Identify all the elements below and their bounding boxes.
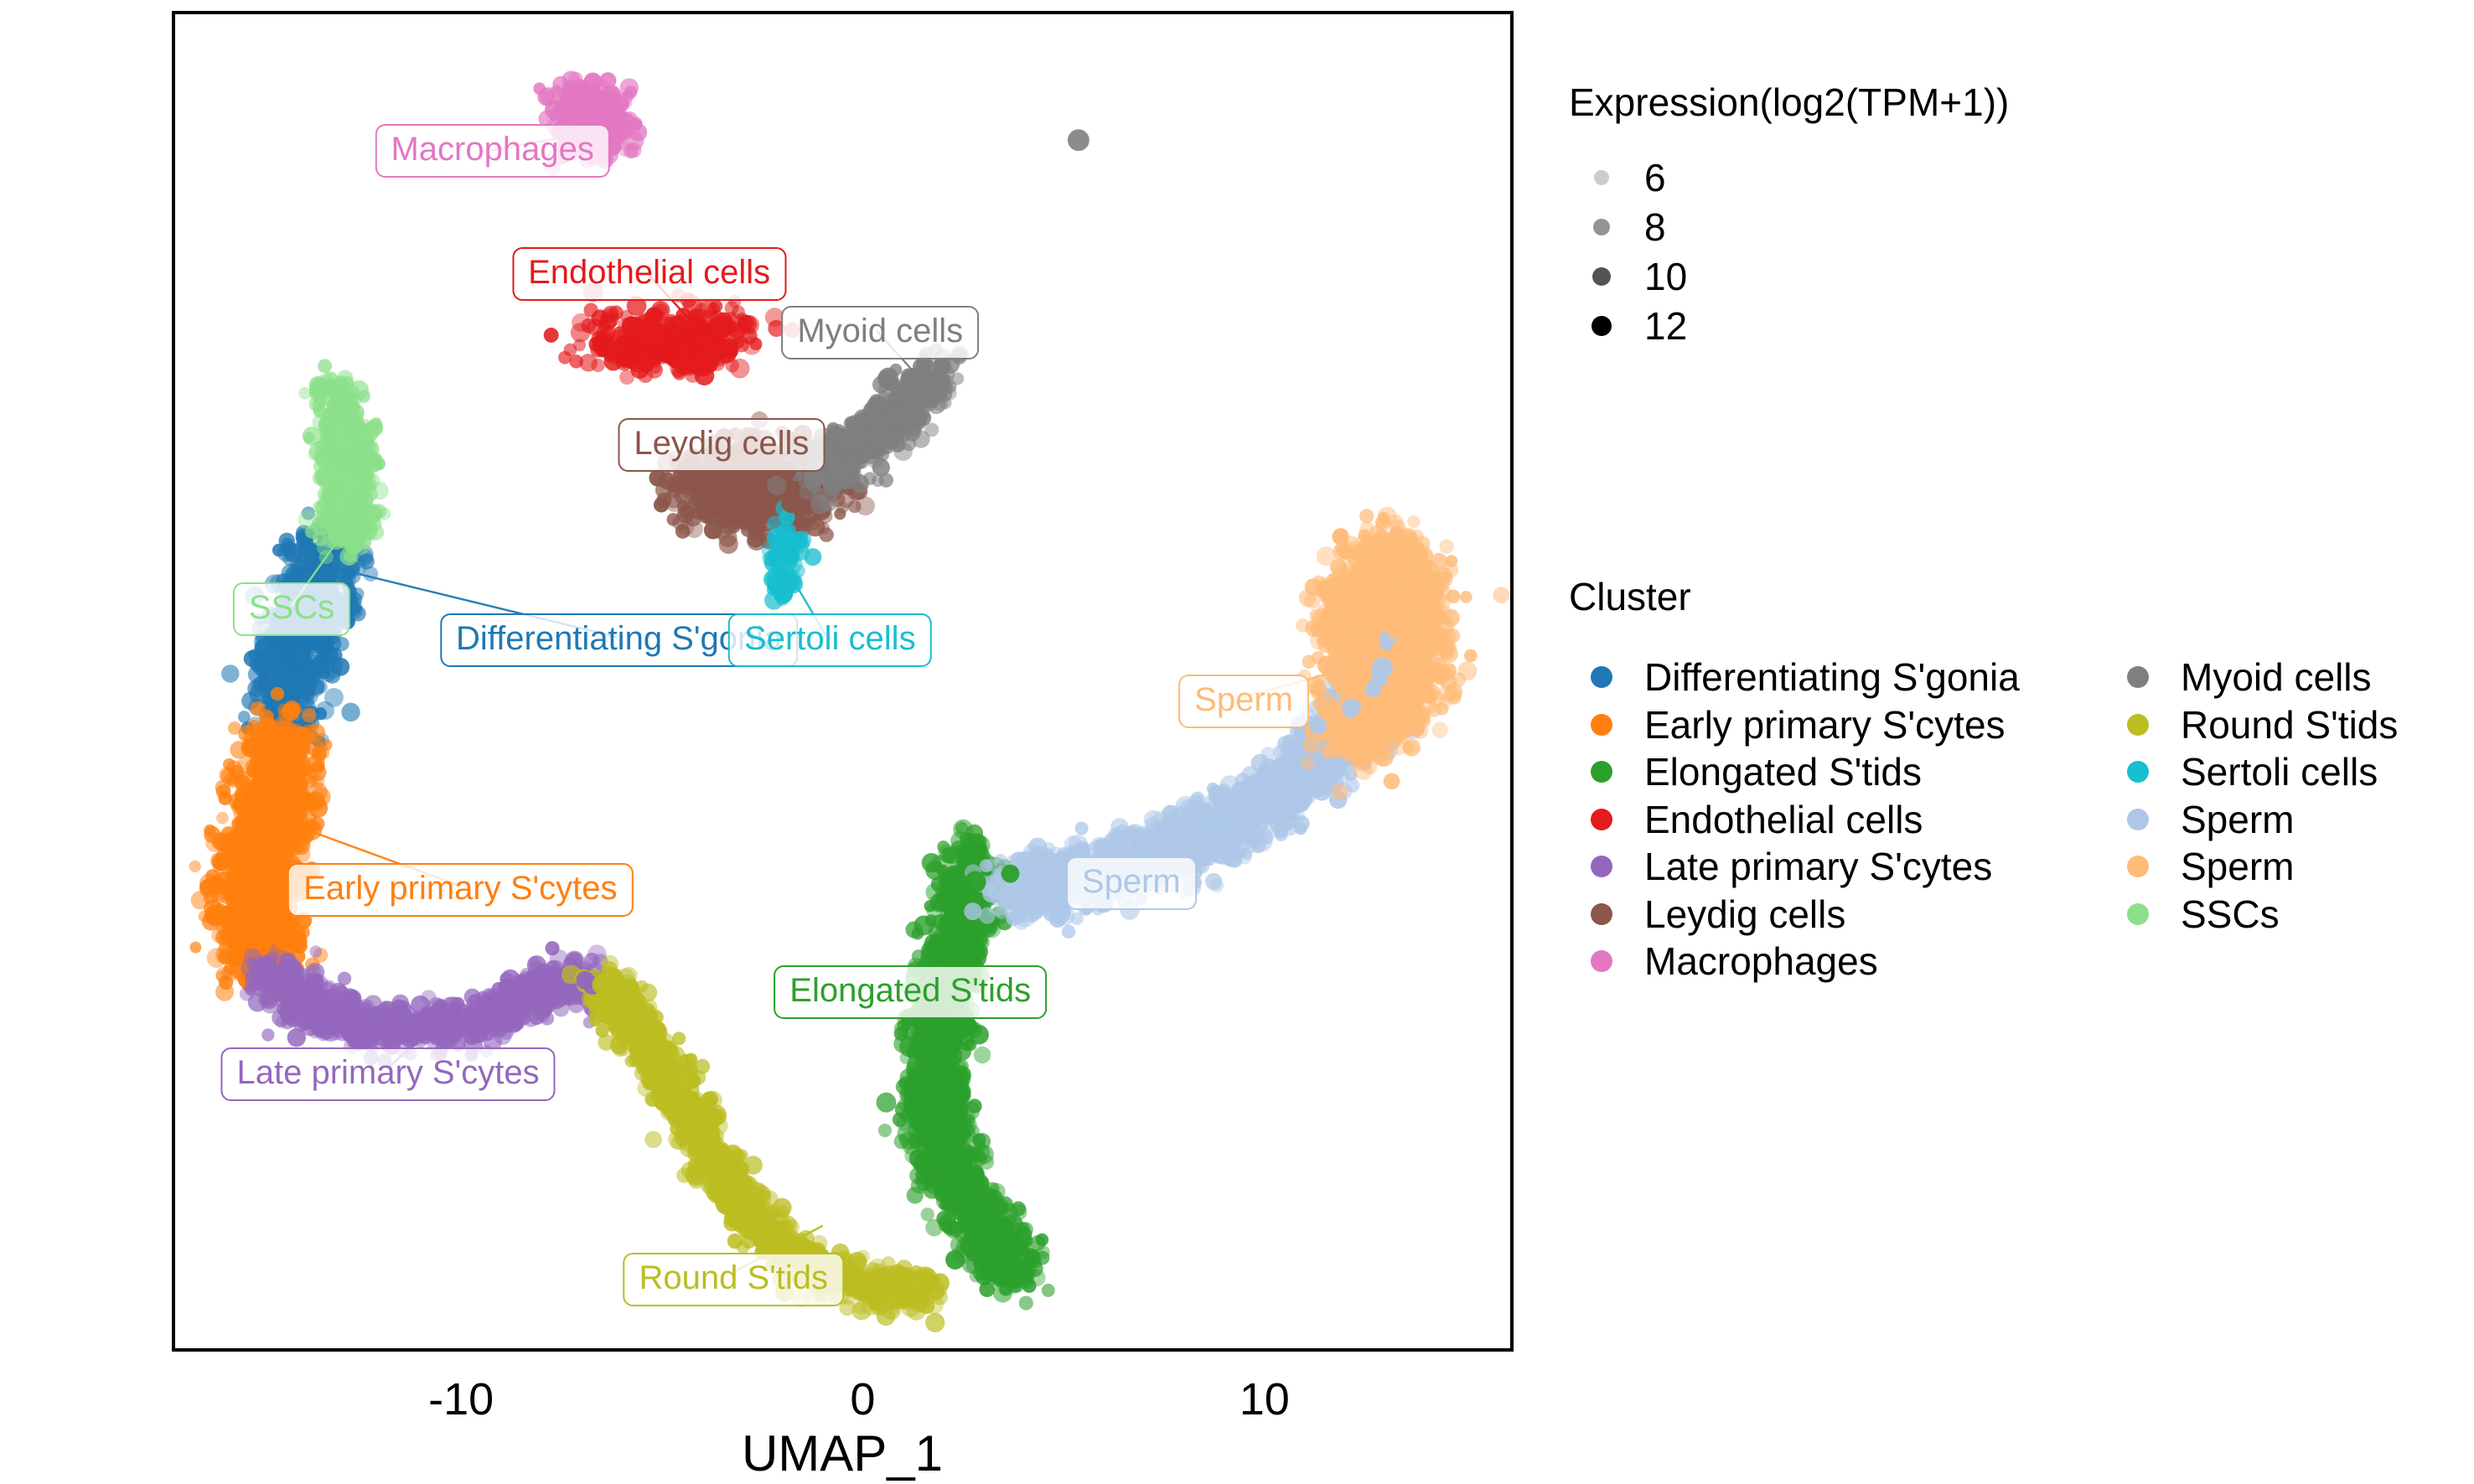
cluster-legend-label: Round S'tids — [2181, 702, 2398, 747]
cluster-annotation-label: Sperm — [1066, 856, 1197, 910]
cluster-legend-items: Differentiating S'goniaEarly primary S'c… — [1569, 654, 2398, 985]
expression-legend-dot-icon — [1592, 316, 1612, 336]
cluster-legend-item[interactable]: Elongated S'tids — [1569, 748, 2105, 796]
cluster-annotations-layer: Differentiating S'goniaEarly primary S'c… — [175, 14, 1510, 1348]
cluster-legend-label: Sperm — [2181, 797, 2294, 842]
cluster-legend-dot-icon — [2127, 714, 2149, 736]
cluster-legend-label: Leydig cells — [1644, 892, 1845, 937]
cluster-legend-item[interactable]: SSCs — [2105, 891, 2398, 938]
cluster-legend-column-2: Myoid cellsRound S'tidsSertoli cellsSper… — [2105, 654, 2398, 985]
expression-legend-item[interactable]: 8 — [1569, 202, 1687, 251]
cluster-legend-item[interactable]: Myoid cells — [2105, 654, 2398, 701]
cluster-legend-item[interactable]: Differentiating S'gonia — [1569, 654, 2105, 701]
cluster-legend-item[interactable]: Endothelial cells — [1569, 796, 2105, 844]
expression-legend-swatch-cell — [1569, 170, 1634, 185]
cluster-legend-item[interactable]: Sertoli cells — [2105, 748, 2398, 796]
cluster-annotation-label: Leydig cells — [618, 418, 825, 472]
cluster-legend-column-1: Differentiating S'goniaEarly primary S'c… — [1569, 654, 2105, 985]
expression-legend-value: 10 — [1644, 254, 1687, 299]
cluster-annotation-label: Endothelial cells — [512, 247, 786, 301]
cluster-legend-dot-icon — [1591, 950, 1612, 972]
x-tick-label: 0 — [850, 1373, 875, 1425]
cluster-legend-title: Cluster — [1569, 574, 1691, 619]
umap-figure: Differentiating S'goniaEarly primary S'c… — [0, 0, 2474, 1484]
x-axis-title: UMAP_1 — [742, 1425, 943, 1482]
expression-legend-items: 681012 — [1569, 153, 1687, 350]
cluster-annotation-label: Macrophages — [375, 124, 609, 178]
cluster-legend-swatch-cell — [2105, 761, 2171, 783]
cluster-legend-dot-icon — [2127, 666, 2149, 688]
cluster-legend-swatch-cell — [1569, 856, 1634, 877]
plot-panel: Differentiating S'goniaEarly primary S'c… — [172, 11, 1514, 1352]
cluster-legend-dot-icon — [1591, 856, 1612, 877]
legend-region: Expression(log2(TPM+1)) 681012 Cluster D… — [1534, 0, 2474, 1484]
cluster-annotation-label: Sperm — [1178, 675, 1309, 728]
cluster-legend-dot-icon — [1591, 809, 1612, 830]
cluster-legend-label: Late primary S'cytes — [1644, 844, 1992, 889]
cluster-legend-label: Myoid cells — [2181, 654, 2372, 700]
cluster-legend-swatch-cell — [1569, 666, 1634, 688]
cluster-legend-swatch-cell — [2105, 809, 2171, 830]
cluster-legend-item[interactable]: Sperm — [2105, 843, 2398, 891]
cluster-annotation-label: Late primary S'cytes — [221, 1047, 556, 1101]
expression-legend-item[interactable]: 10 — [1569, 251, 1687, 301]
expression-legend-item[interactable]: 6 — [1569, 153, 1687, 202]
cluster-legend-dot-icon — [1591, 903, 1612, 925]
cluster-annotation-label: Sertoli cells — [728, 613, 932, 667]
cluster-legend-label: Early primary S'cytes — [1644, 702, 2006, 747]
expression-legend-swatch-cell — [1569, 316, 1634, 336]
cluster-legend-item[interactable]: Round S'tids — [2105, 701, 2398, 749]
cluster-legend-dot-icon — [1591, 714, 1612, 736]
expression-legend-dot-icon — [1592, 267, 1611, 286]
cluster-annotation-label: Elongated S'tids — [774, 965, 1047, 1019]
x-tick-label: 10 — [1240, 1373, 1290, 1425]
cluster-legend-dot-icon — [2127, 761, 2149, 783]
expression-legend-value: 8 — [1644, 204, 1666, 250]
x-tick-label: -10 — [428, 1373, 494, 1425]
cluster-annotation-label: Myoid cells — [781, 306, 979, 359]
expression-legend-item[interactable]: 12 — [1569, 301, 1687, 350]
cluster-legend-swatch-cell — [1569, 950, 1634, 972]
cluster-legend-label: SSCs — [2181, 892, 2280, 937]
expression-legend-dot-icon — [1593, 219, 1610, 235]
expression-legend-dot-icon — [1594, 170, 1609, 185]
cluster-legend-dot-icon — [2127, 856, 2149, 877]
cluster-legend-item[interactable]: Sperm — [2105, 796, 2398, 844]
expression-legend-value: 6 — [1644, 155, 1666, 200]
cluster-legend-swatch-cell — [2105, 856, 2171, 877]
cluster-legend-dot-icon — [2127, 809, 2149, 830]
cluster-legend-swatch-cell — [1569, 903, 1634, 925]
cluster-legend-dot-icon — [2127, 903, 2149, 925]
expression-legend-value: 12 — [1644, 303, 1687, 349]
expression-legend-swatch-cell — [1569, 219, 1634, 235]
cluster-annotation-label: SSCs — [233, 582, 350, 636]
cluster-legend-item[interactable]: Macrophages — [1569, 938, 2105, 985]
cluster-legend-label: Sperm — [2181, 844, 2294, 889]
cluster-legend-item[interactable]: Early primary S'cytes — [1569, 701, 2105, 749]
cluster-legend-swatch-cell — [1569, 761, 1634, 783]
cluster-legend-label: Differentiating S'gonia — [1644, 654, 2020, 700]
cluster-legend-swatch-cell — [2105, 666, 2171, 688]
cluster-legend-swatch-cell — [2105, 903, 2171, 925]
cluster-annotation-label: Round S'tids — [624, 1253, 845, 1306]
cluster-legend-swatch-cell — [2105, 714, 2171, 736]
expression-legend-title: Expression(log2(TPM+1)) — [1569, 80, 2009, 125]
cluster-legend-label: Macrophages — [1644, 938, 1878, 984]
cluster-legend-item[interactable]: Late primary S'cytes — [1569, 843, 2105, 891]
cluster-legend-item[interactable]: Leydig cells — [1569, 891, 2105, 938]
cluster-legend-label: Sertoli cells — [2181, 749, 2378, 794]
plot-region: Differentiating S'goniaEarly primary S'c… — [0, 0, 1534, 1484]
expression-legend-swatch-cell — [1569, 267, 1634, 286]
cluster-legend-swatch-cell — [1569, 714, 1634, 736]
cluster-legend-dot-icon — [1591, 761, 1612, 783]
cluster-legend-dot-icon — [1591, 666, 1612, 688]
cluster-annotation-label: Early primary S'cytes — [287, 863, 633, 917]
cluster-legend-swatch-cell — [1569, 809, 1634, 830]
cluster-legend-label: Endothelial cells — [1644, 797, 1923, 842]
cluster-legend-label: Elongated S'tids — [1644, 749, 1922, 794]
